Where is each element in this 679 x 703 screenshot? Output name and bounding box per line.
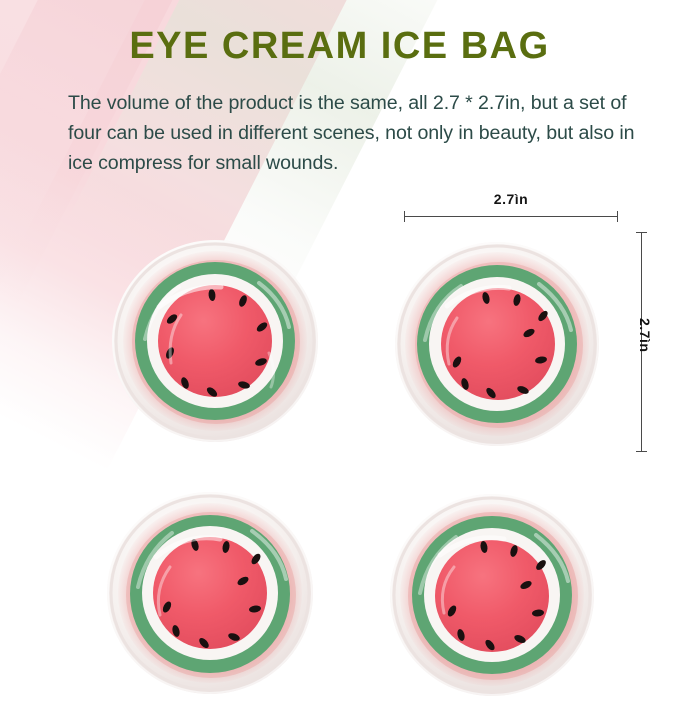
page-title: EYE CREAM ICE BAG — [0, 25, 679, 68]
height-dimension-label: 2.7ìn — [637, 318, 653, 352]
page-description: The volume of the product is the same, a… — [68, 88, 658, 178]
ice-pack-top-right — [391, 238, 603, 450]
ice-pack-bottom-right — [386, 489, 598, 701]
ice-pack-top-left — [109, 235, 321, 447]
ice-pack-bottom-left — [104, 487, 316, 699]
product-infographic: EYE CREAM ICE BAG The volume of the prod… — [0, 0, 679, 703]
width-dimension-label: 2.7ìn — [404, 191, 618, 207]
width-dimension-line — [404, 216, 618, 217]
